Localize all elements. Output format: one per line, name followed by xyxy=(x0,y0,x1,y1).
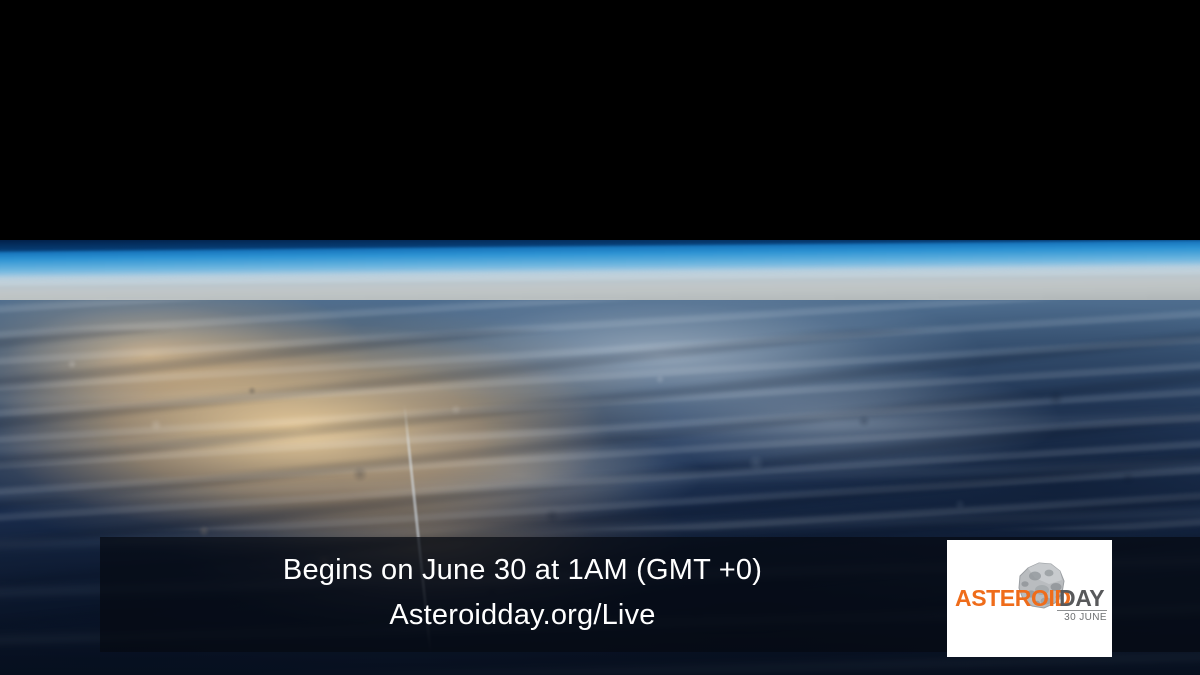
caption-website-url[interactable]: Asteroidday.org/Live xyxy=(100,593,945,638)
logo-date-label: 30 JUNE xyxy=(1057,612,1107,623)
asteroid-day-logo[interactable]: ASTEROID DAY 30 JUNE xyxy=(947,540,1112,657)
caption-broadcast-time: Begins on June 30 at 1AM (GMT +0) xyxy=(100,548,945,593)
logo-word-asteroid: ASTEROID xyxy=(955,585,1071,612)
caption-text-block: Begins on June 30 at 1AM (GMT +0) Astero… xyxy=(100,548,945,638)
header-band xyxy=(0,0,1200,240)
logo-word-day: DAY xyxy=(1059,585,1104,612)
poster-root: ASTEROID DAY LIVE The first-ever global … xyxy=(0,0,1200,675)
logo-divider-rule xyxy=(1057,610,1107,611)
logo-inner: ASTEROID DAY 30 JUNE xyxy=(947,576,1112,624)
